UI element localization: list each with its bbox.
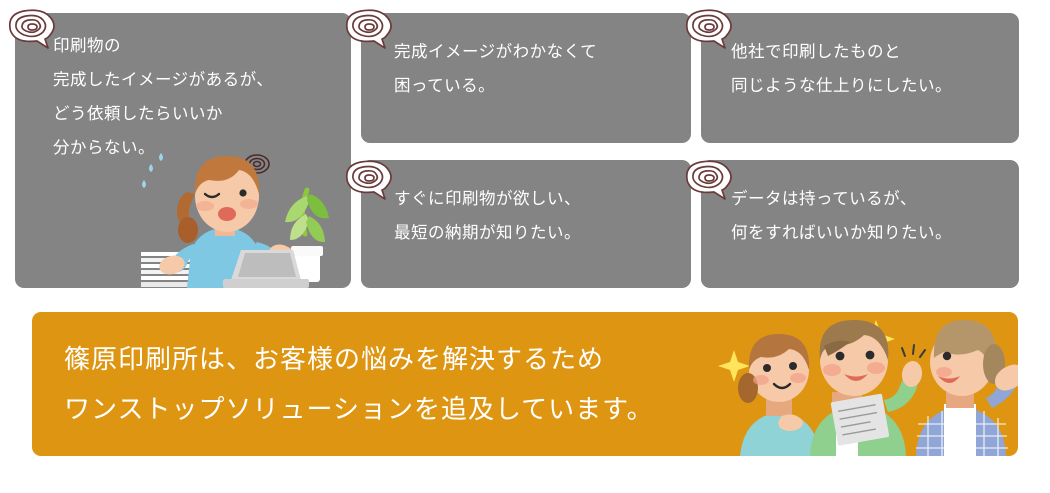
banner-headline: 篠原印刷所は、お客様の悩みを解決するため ワンストップソリューションを追及してい… (64, 334, 654, 434)
one-stop-solution-banner: 篠原印刷所は、お客様の悩みを解決するため ワンストップソリューションを追及してい… (32, 312, 1018, 456)
problem-card: すぐに印刷物が欲しい、 最短の納期が知りたい。 (361, 160, 691, 288)
problem-card-text: 他社で印刷したものと 同じような仕上りにしたい。 (731, 35, 952, 103)
problem-and-solution-panel: 印刷物の 完成したイメージがあるが、 どう依頼したらいいか 分からない。 (0, 0, 1050, 493)
problem-card: 完成イメージがわかなくて 困っている。 (361, 13, 691, 143)
worried-woman-at-desk-illustration (139, 146, 345, 288)
three-smiling-people-illustration (706, 312, 1018, 456)
problem-card-text: 印刷物の 完成したイメージがあるが、 どう依頼したらいいか 分からない。 (53, 29, 273, 165)
problem-card: データは持っているが、 何をすればいいか知りたい。 (701, 160, 1019, 288)
problem-card: 印刷物の 完成したイメージがあるが、 どう依頼したらいいか 分からない。 (15, 13, 351, 288)
problem-card-text: 完成イメージがわかなくて 困っている。 (394, 35, 597, 103)
problem-card-text: データは持っているが、 何をすればいいか知りたい。 (731, 182, 952, 250)
problem-card: 他社で印刷したものと 同じような仕上りにしたい。 (701, 13, 1019, 143)
problem-card-text: すぐに印刷物が欲しい、 最短の納期が知りたい。 (394, 182, 581, 250)
